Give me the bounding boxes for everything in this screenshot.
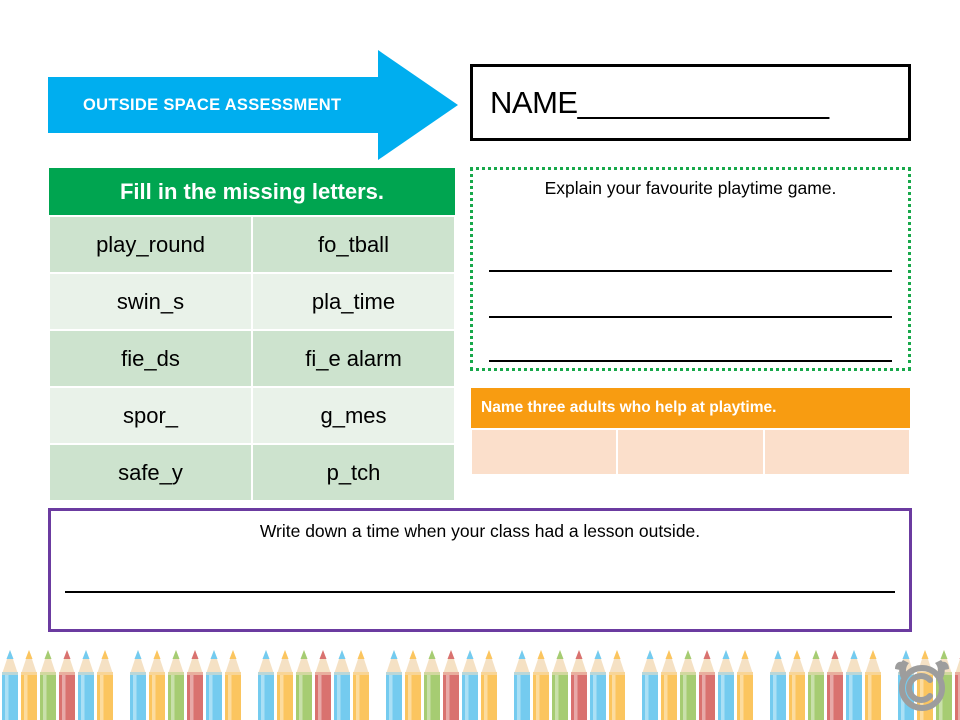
table-row: spor_ g_mes: [49, 387, 455, 444]
copyright-reindeer-logo-icon: [889, 650, 955, 714]
name-label: NAME_______________: [490, 85, 829, 121]
adult-answer-cell[interactable]: [617, 429, 763, 475]
word-cell[interactable]: spor_: [49, 387, 252, 444]
banner-label: OUTSIDE SPACE ASSESSMENT: [83, 77, 413, 133]
table-row: safe_y p_tch: [49, 444, 455, 501]
name-adults-header: Name three adults who help at playtime.: [471, 388, 910, 429]
word-cell[interactable]: fie_ds: [49, 330, 252, 387]
pencils-svg: [0, 648, 960, 720]
word-cell[interactable]: fo_tball: [252, 216, 455, 273]
copyright-logo-svg: [889, 650, 955, 714]
table-row: swin_s pla_time: [49, 273, 455, 330]
word-cell[interactable]: safe_y: [49, 444, 252, 501]
name-adults-table: Name three adults who help at playtime.: [470, 388, 911, 476]
writing-line[interactable]: [489, 360, 892, 362]
word-cell[interactable]: pla_time: [252, 273, 455, 330]
word-cell[interactable]: swin_s: [49, 273, 252, 330]
explain-game-box[interactable]: Explain your favourite playtime game.: [470, 167, 911, 371]
word-cell[interactable]: p_tch: [252, 444, 455, 501]
name-adults-body: [471, 429, 910, 475]
colored-pencils-border-icon: [0, 648, 960, 720]
missing-letters-table: Fill in the missing letters. play_round …: [48, 168, 456, 502]
writing-line[interactable]: [489, 270, 892, 272]
missing-letters-header: Fill in the missing letters.: [49, 168, 455, 216]
adult-answer-cell[interactable]: [764, 429, 910, 475]
assessment-banner: OUTSIDE SPACE ASSESSMENT: [48, 77, 458, 133]
table-row: [471, 429, 910, 475]
table-row: fie_ds fi_e alarm: [49, 330, 455, 387]
table-header-row: Name three adults who help at playtime.: [471, 388, 910, 429]
adult-answer-cell[interactable]: [471, 429, 617, 475]
word-cell[interactable]: g_mes: [252, 387, 455, 444]
missing-letters-body: play_round fo_tball swin_s pla_time fie_…: [49, 216, 455, 501]
writing-line[interactable]: [65, 591, 895, 593]
explain-game-prompt: Explain your favourite playtime game.: [473, 178, 908, 199]
name-field-box[interactable]: NAME_______________: [470, 64, 911, 141]
table-row: play_round fo_tball: [49, 216, 455, 273]
word-cell[interactable]: fi_e alarm: [252, 330, 455, 387]
word-cell[interactable]: play_round: [49, 216, 252, 273]
writing-line[interactable]: [489, 316, 892, 318]
lesson-outside-prompt: Write down a time when your class had a …: [51, 521, 909, 542]
lesson-outside-box[interactable]: Write down a time when your class had a …: [48, 508, 912, 632]
table-header-row: Fill in the missing letters.: [49, 168, 455, 216]
